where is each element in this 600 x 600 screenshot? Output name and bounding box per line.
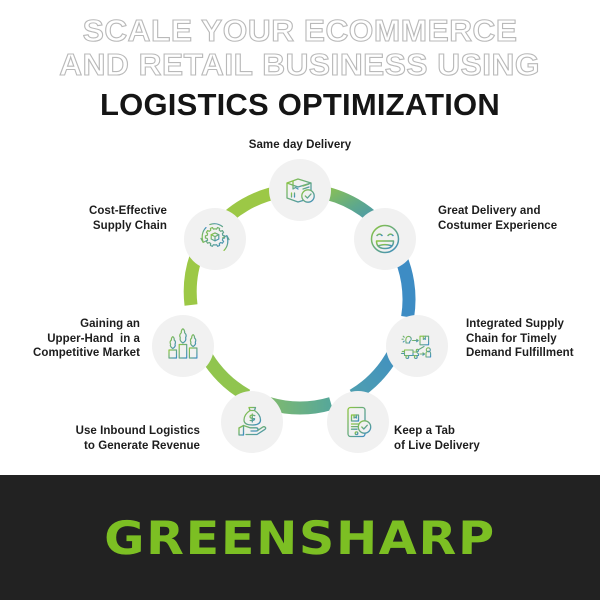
title-line-3: Logistics Optimization (100, 85, 500, 125)
cycle-diagram: Same day Delivery Great Delivery and C (0, 132, 600, 475)
gear-cycle-icon (196, 220, 234, 258)
label-live-delivery-tracking: Keep a Tab of Live Delivery (394, 424, 554, 453)
brand-logo: Greensharp (104, 511, 496, 565)
node-competitive-upper-hand[interactable] (152, 315, 214, 377)
label-inbound-logistics-revenue: Use Inbound Logistics to Generate Revenu… (38, 424, 200, 453)
footer: Greensharp (0, 475, 600, 600)
supply-flow-icon (399, 328, 435, 364)
label-integrated-supply-chain: Integrated Supply Chain for Timely Deman… (466, 317, 600, 361)
label-great-delivery-experience: Great Delivery and Costumer Experience (438, 204, 598, 233)
money-bag-hand-icon (234, 404, 270, 440)
growth-chart-icon (165, 328, 201, 364)
title-line-2: And Retail Business Using (60, 48, 541, 82)
title-line-1: Scale Your Ecommerce (83, 14, 518, 48)
label-same-day-delivery: Same day Delivery (190, 138, 410, 153)
node-integrated-supply-chain[interactable] (386, 315, 448, 377)
node-great-delivery-experience[interactable] (354, 208, 416, 270)
node-live-delivery-tracking[interactable] (327, 391, 389, 453)
node-same-day-delivery[interactable] (269, 159, 331, 221)
package-check-icon (282, 172, 318, 208)
smiley-face-icon (367, 221, 403, 257)
node-inbound-logistics-revenue[interactable] (221, 391, 283, 453)
node-cost-effective-supply-chain[interactable] (184, 208, 246, 270)
label-cost-effective-supply-chain: Cost-Effective Supply Chain (15, 204, 167, 233)
header: Scale Your Ecommerce And Retail Business… (0, 0, 600, 132)
label-competitive-upper-hand: Gaining an Upper-Hand in a Competitive M… (0, 317, 140, 361)
mobile-tracking-icon (340, 404, 376, 440)
